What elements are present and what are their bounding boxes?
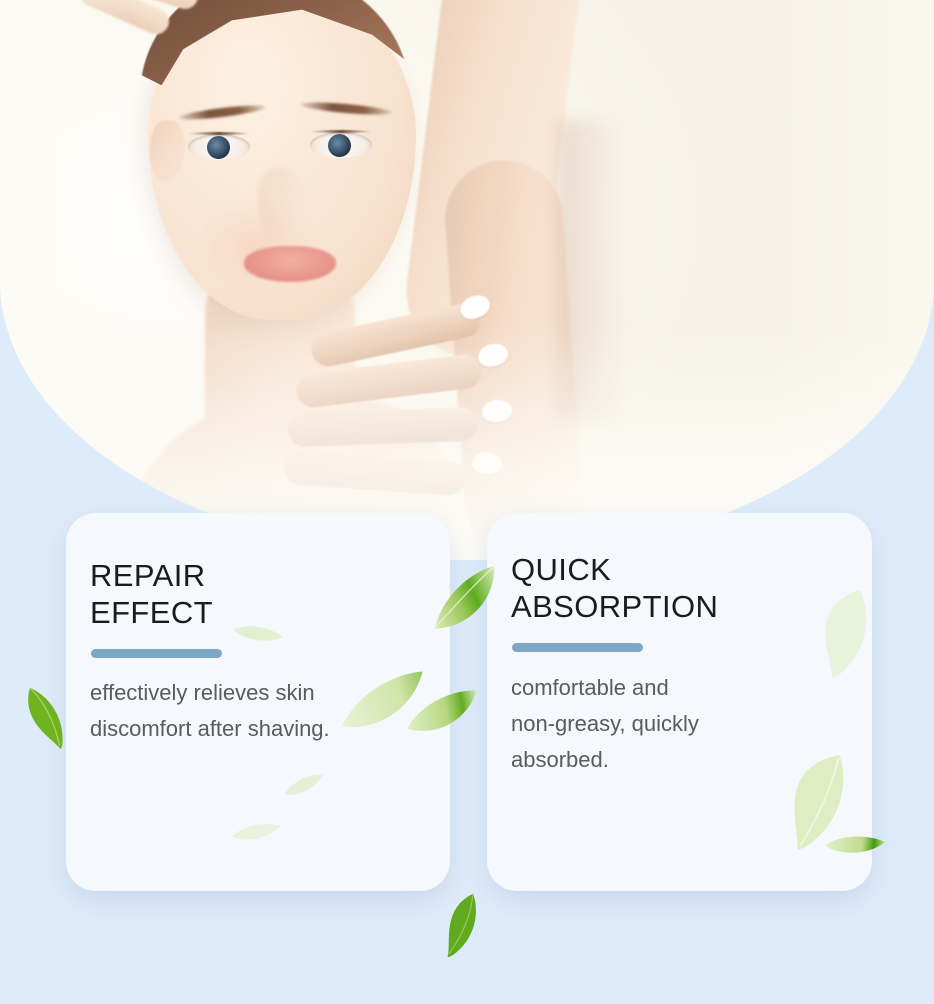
- leaf-icon: [428, 884, 496, 967]
- card-title: QUICK ABSORPTION: [511, 551, 718, 625]
- accent-bar: [512, 643, 643, 652]
- card-title: REPAIR EFFECT: [90, 557, 213, 631]
- feature-card-quick-absorption[interactable]: QUICK ABSORPTION comfortable and non-gre…: [487, 513, 872, 891]
- card-description: comfortable and non-greasy, quickly abso…: [511, 670, 831, 778]
- feature-card-repair-effect[interactable]: REPAIR EFFECT effectively relieves skin …: [66, 513, 450, 891]
- promo-banner: REPAIR EFFECT effectively relieves skin …: [0, 0, 934, 1004]
- card-description: effectively relieves skin discomfort aft…: [90, 675, 410, 747]
- hero-photo-panel: [0, 0, 934, 560]
- photo-fade-overlay: [0, 0, 934, 560]
- accent-bar: [91, 649, 222, 658]
